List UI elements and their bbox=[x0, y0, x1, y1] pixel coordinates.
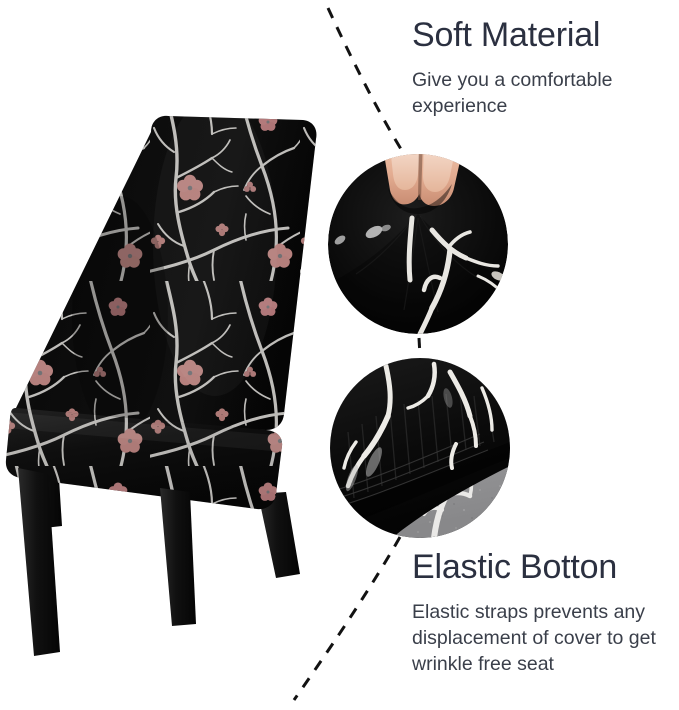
product-chair-image bbox=[0, 96, 330, 656]
soft-material-text-block: Soft Material Give you a comfortable exp… bbox=[412, 16, 670, 120]
connector-middle bbox=[419, 338, 420, 356]
connector-top bbox=[328, 8, 404, 154]
soft-material-headline: Soft Material bbox=[412, 16, 670, 54]
chair-leg-front-right bbox=[160, 488, 196, 626]
elastic-botton-text-block: Elastic Botton Elastic straps prevents a… bbox=[412, 548, 670, 678]
infographic-canvas: Soft Material Give you a comfortable exp… bbox=[0, 0, 679, 710]
chair-backrest bbox=[0, 96, 330, 456]
soft-material-subtext: Give you a comfortable experience bbox=[412, 68, 670, 120]
elastic-botton-callout-image bbox=[330, 358, 510, 538]
elastic-botton-subtext: Elastic straps prevents any displacement… bbox=[412, 600, 670, 678]
elastic-botton-headline: Elastic Botton bbox=[412, 548, 670, 586]
soft-material-callout-image bbox=[328, 154, 508, 334]
